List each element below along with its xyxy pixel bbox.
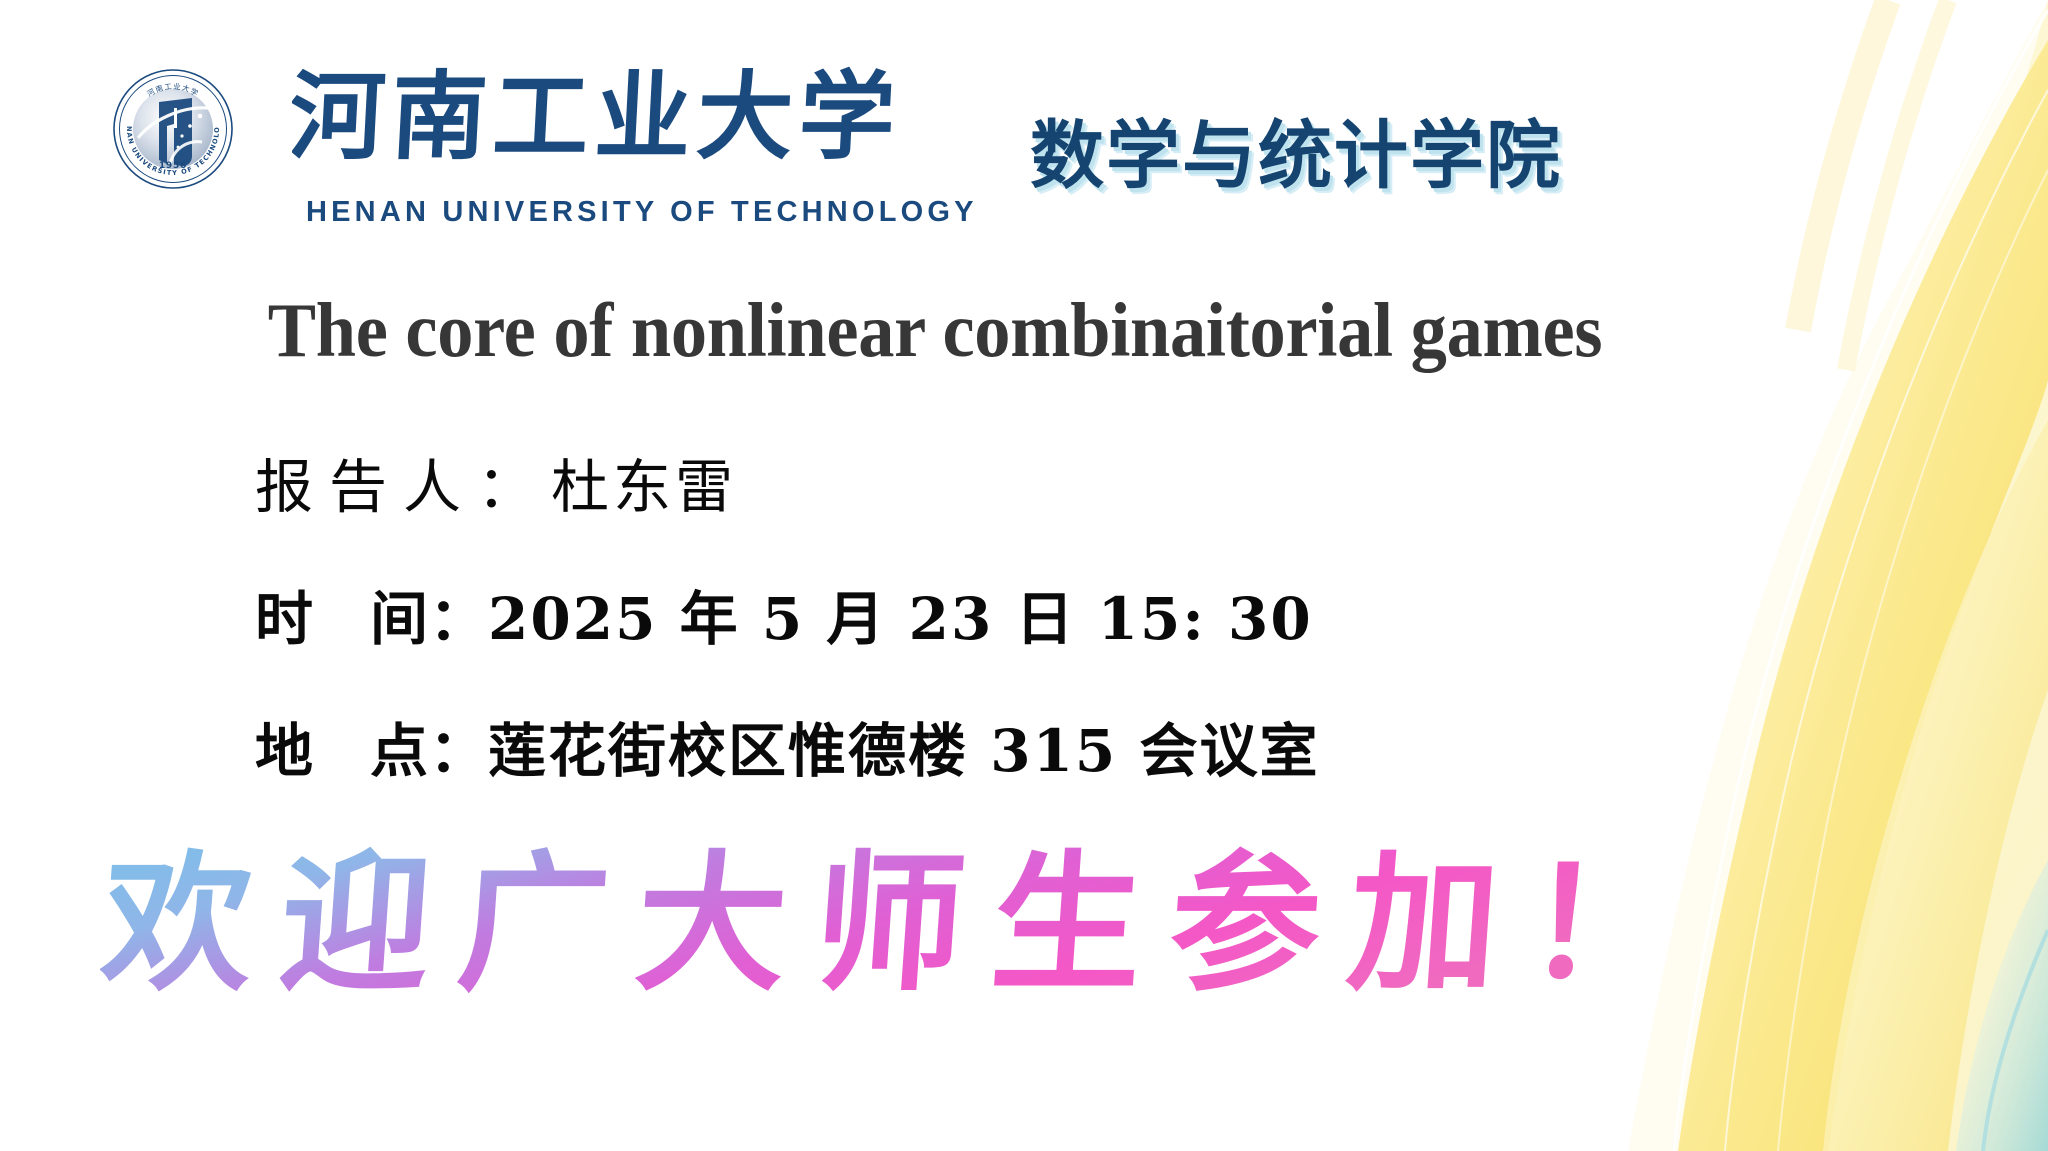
time-value: 2025 年 5 月 23 日 15: 30 <box>488 572 1313 656</box>
svg-text:1956: 1956 <box>159 161 187 171</box>
talk-title: The core of nonlinear combinaitorial gam… <box>56 286 1814 375</box>
university-name-cn: 河南工业大学 <box>292 62 932 172</box>
university-seal-icon: 河南工业大学 HENAN UNIVERSITY OF TECHNOLOGY 19… <box>112 68 234 190</box>
welcome-banner: 欢迎广大师生参加！ <box>100 818 1860 1018</box>
seminar-poster: 河南工业大学 HENAN UNIVERSITY OF TECHNOLOGY 19… <box>0 0 2048 1151</box>
time-label: 时间： <box>255 572 488 656</box>
speaker-label: 报告人： <box>255 440 551 524</box>
poster-header: 河南工业大学 HENAN UNIVERSITY OF TECHNOLOGY 19… <box>0 0 1700 240</box>
college-name: 数学与统计学院 <box>1030 96 1562 203</box>
talk-details: 报告人： 杜东雷 时间： 2025 年 5 月 23 日 15: 30 地点： … <box>255 440 1655 788</box>
place-label: 地点： <box>255 704 488 788</box>
svg-text:河南工业大学: 河南工业大学 <box>292 62 904 172</box>
svg-text:欢迎广大师生参加！: 欢迎广大师生参加！ <box>100 838 1710 1012</box>
detail-row-time: 时间： 2025 年 5 月 23 日 15: 30 <box>255 572 1655 656</box>
place-value: 莲花街校区惟德楼 315 会议室 <box>488 704 1319 788</box>
speaker-value: 杜东雷 <box>551 440 737 524</box>
detail-row-speaker: 报告人： 杜东雷 <box>255 440 1655 524</box>
university-name-en: HENAN UNIVERSITY OF TECHNOLOGY <box>306 196 978 229</box>
detail-row-place: 地点： 莲花街校区惟德楼 315 会议室 <box>255 704 1655 788</box>
